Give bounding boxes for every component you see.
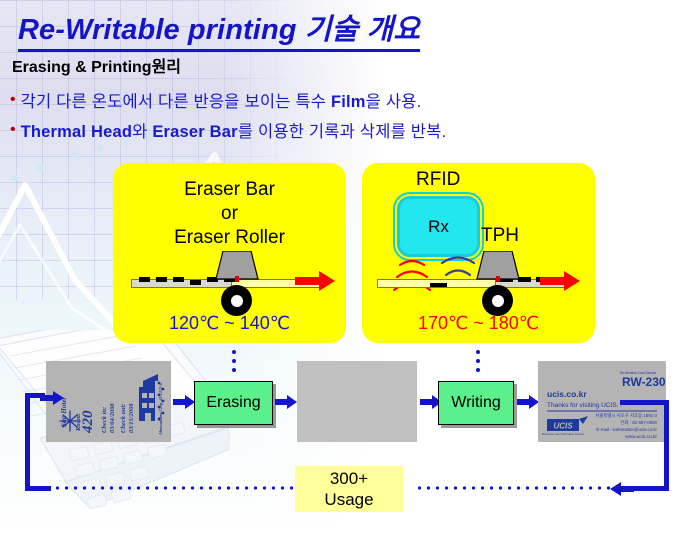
usage-count-value: 300+ [330, 468, 368, 489]
flow-arrow-2-icon [275, 394, 297, 410]
page-title: Re-Writable printing 기술 개요 [18, 6, 420, 52]
contact-point-icon [235, 276, 239, 282]
bullet-text: 각기 다른 온도에서 다른 반응을 보이는 특수 Film을 사용. [21, 88, 422, 112]
loop-line-right-vertical [664, 400, 669, 489]
printing-panel-connector [476, 350, 480, 374]
printing-panel: RFID Rx TPH [362, 163, 595, 343]
flow-arrow-4-icon [517, 394, 539, 410]
loop-dotted-left [44, 486, 295, 490]
eraser-panel-line1: Eraser Bar [113, 179, 346, 201]
loop-line-left-bottom [25, 486, 51, 491]
feed-direction-arrow-icon [540, 270, 580, 292]
loop-line-right-bottom [632, 486, 669, 491]
bullet-marker-icon: • [10, 92, 16, 108]
svg-text:RW-230: RW-230 [622, 375, 666, 389]
bullet-2-bold-2: Eraser Bar [152, 123, 237, 141]
bullet-2-post: 를 이용한 기록과 삭제를 반복. [238, 123, 446, 141]
section-subtitle: Erasing & Printing원리 [12, 53, 181, 77]
svg-text:Check out:: Check out: [120, 404, 127, 433]
bullet-marker-icon: • [10, 122, 16, 138]
list-item: • Thermal Head와 Eraser Bar를 이용한 기록과 삭제를 … [10, 118, 530, 142]
eraser-panel-line3: Eraser Roller [113, 227, 346, 249]
svg-text:03/15/2008: 03/15/2008 [128, 403, 135, 433]
printing-temperature: 170℃ ~ 180℃ [362, 313, 595, 334]
bullet-1-pre: 각기 다른 온도에서 다른 반응을 보이는 특수 [21, 93, 331, 111]
printed-mark [173, 277, 184, 282]
bullet-list: • 각기 다른 온도에서 다른 반응을 보이는 특수 Film을 사용. • T… [10, 88, 530, 148]
tph-label: TPH [481, 225, 519, 247]
step-writing-label: Writing [451, 394, 501, 412]
loop-line-left-vertical [25, 393, 30, 491]
eraser-temperature: 120℃ ~ 140℃ [113, 313, 346, 334]
printed-mark [139, 277, 150, 282]
svg-text:UCIS: UCIS [553, 422, 573, 431]
bullet-2-mid: 와 [132, 123, 152, 141]
eraser-mechanism-diagram [113, 258, 346, 318]
bullet-2-bold-1: Thermal Head [21, 123, 133, 141]
eraser-panel-line2: or [113, 203, 346, 225]
svg-text:Abracadabra Corp. #1-1212-4: Abracadabra Corp. #1-1212-4 [158, 383, 163, 436]
flow-arrow-1-icon [173, 394, 195, 410]
rfid-rx-label: Rx [428, 217, 449, 237]
printed-mark [430, 283, 447, 287]
card-before-image: Sun Hotel Room: 420 Check in: 03/04/2008… [46, 361, 171, 442]
bullet-1-mid: 을 사용. [366, 93, 422, 111]
step-erasing-label: Erasing [206, 394, 260, 412]
loop-arrow-right-icon [40, 390, 64, 406]
usage-count-label: Usage [324, 489, 373, 510]
eraser-panel: Eraser Bar or Eraser Roller [113, 163, 346, 343]
svg-text:03/04/2008: 03/04/2008 [109, 403, 116, 433]
printed-mark [156, 277, 167, 282]
printing-mechanism-diagram [362, 258, 595, 318]
loop-line-right-top [620, 400, 669, 405]
eraser-panel-connector [232, 350, 236, 374]
list-item: • 각기 다른 온도에서 다른 반응을 보이는 특수 Film을 사용. [10, 88, 530, 112]
loop-arrow-left-icon [610, 481, 634, 497]
slide-canvas: Re-Writable printing 기술 개요 Erasing & Pri… [0, 0, 700, 534]
svg-text:E-mail : webmaster@ucis.co.kr: E-mail : webmaster@ucis.co.kr [596, 427, 657, 432]
contact-point-icon [496, 276, 500, 282]
card-blank-image [297, 361, 417, 442]
rfid-rx-box: Rx [397, 196, 480, 257]
loop-dotted-right [415, 486, 611, 490]
svg-text:서울특별시 서초구 서초동 1591-3: 서울특별시 서초구 서초동 1591-3 [595, 412, 657, 419]
svg-text:전화 : 02-597-0900: 전화 : 02-597-0900 [620, 419, 657, 426]
usage-count-box: 300+ Usage [295, 466, 403, 512]
svg-text:www.ucis.co.kr: www.ucis.co.kr [625, 434, 657, 440]
printed-mark [190, 280, 201, 285]
rfid-label: RFID [416, 169, 460, 191]
bullet-1-bold: Film [331, 93, 366, 111]
svg-text:Thanks for visiting UCIS. .: Thanks for visiting UCIS. . [547, 402, 622, 409]
svg-text:Ubiquitous Card Information So: Ubiquitous Card Information Solution [542, 432, 585, 436]
svg-text:420: 420 [80, 410, 96, 434]
platen-roller-icon [221, 285, 252, 316]
bullet-text: Thermal Head와 Eraser Bar를 이용한 기록과 삭제를 반복… [21, 118, 447, 142]
step-writing: Writing [438, 381, 514, 425]
platen-roller-icon [482, 285, 513, 316]
step-erasing: Erasing [194, 381, 273, 425]
svg-text:ucis.co.kr: ucis.co.kr [547, 389, 587, 399]
svg-text:Check in:: Check in: [101, 407, 108, 433]
background-artwork [0, 0, 700, 534]
feed-direction-arrow-icon [295, 270, 335, 292]
hotel-keycard-graphic-icon: Sun Hotel Room: 420 Check in: 03/04/2008… [46, 361, 171, 442]
